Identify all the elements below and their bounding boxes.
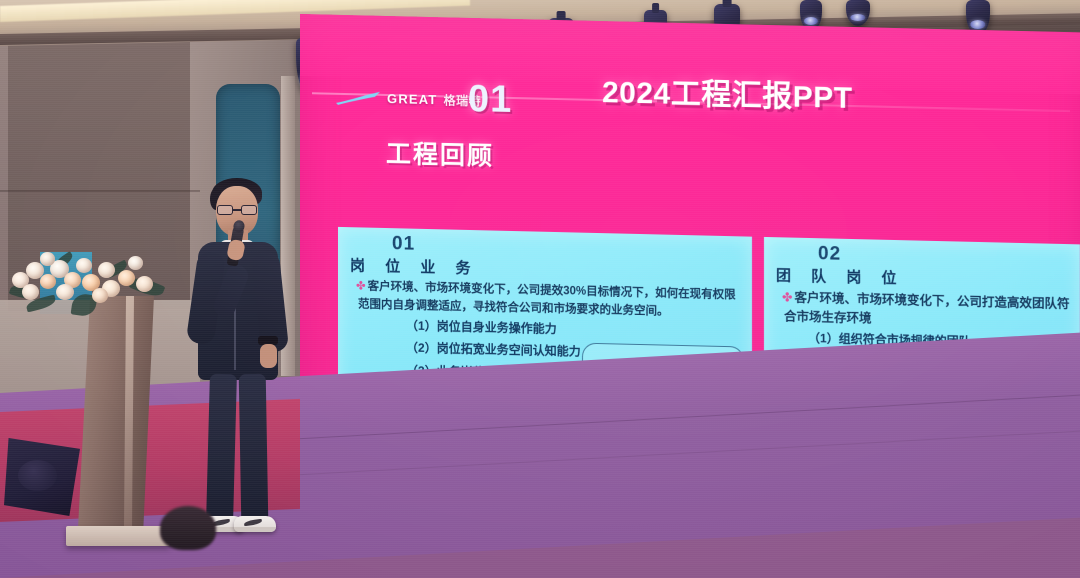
audience-head [160,506,216,550]
presenter-legs [206,374,270,522]
pedestal-base [66,526,170,546]
deck-subtitle: 工程回顾 [386,134,494,173]
card-lead-paragraph: ✤客户环境、市场环境变化下，公司提效30%目标情况下，如何在现有权限范围内自身调… [348,278,742,323]
bullet-mark-icon: ✤ [356,280,366,292]
stage-light-icon [846,0,870,26]
stage-monitor-speaker [4,438,80,516]
deck-title: 2024工程汇报PPT [602,67,853,117]
flower-pedestal [78,296,154,544]
sneaker-icon [234,516,276,532]
swoosh-icon [335,89,381,106]
conference-stage-photo: GREAT 格瑞特 01 2024工程汇报PPT 工程回顾 01 岗 位 业 务… [0,0,1080,578]
card-lead-paragraph: ✤客户环境、市场环境变化下，公司打造高效团队符合市场生存环境 [774,288,1070,334]
brand-logo: GREAT 格瑞特 [335,89,481,109]
speaker-grille [18,460,58,491]
brand-name-en: GREAT [387,91,438,107]
card-lead-text: 客户环境、市场环境变化下，公司提效30%目标情况下，如何在现有权限范围内自身调整… [358,281,736,318]
presenter [176,178,296,550]
wall-seam [0,190,200,192]
card-lead-text: 客户环境、市场环境变化下，公司打造高效团队符合市场生存环境 [784,291,1070,326]
flower-arrangement [10,250,170,318]
bullet-mark-icon: ✤ [782,290,792,304]
presenter-hand [260,344,277,368]
section-number: 01 [468,78,512,122]
glasses-icon [216,205,258,215]
